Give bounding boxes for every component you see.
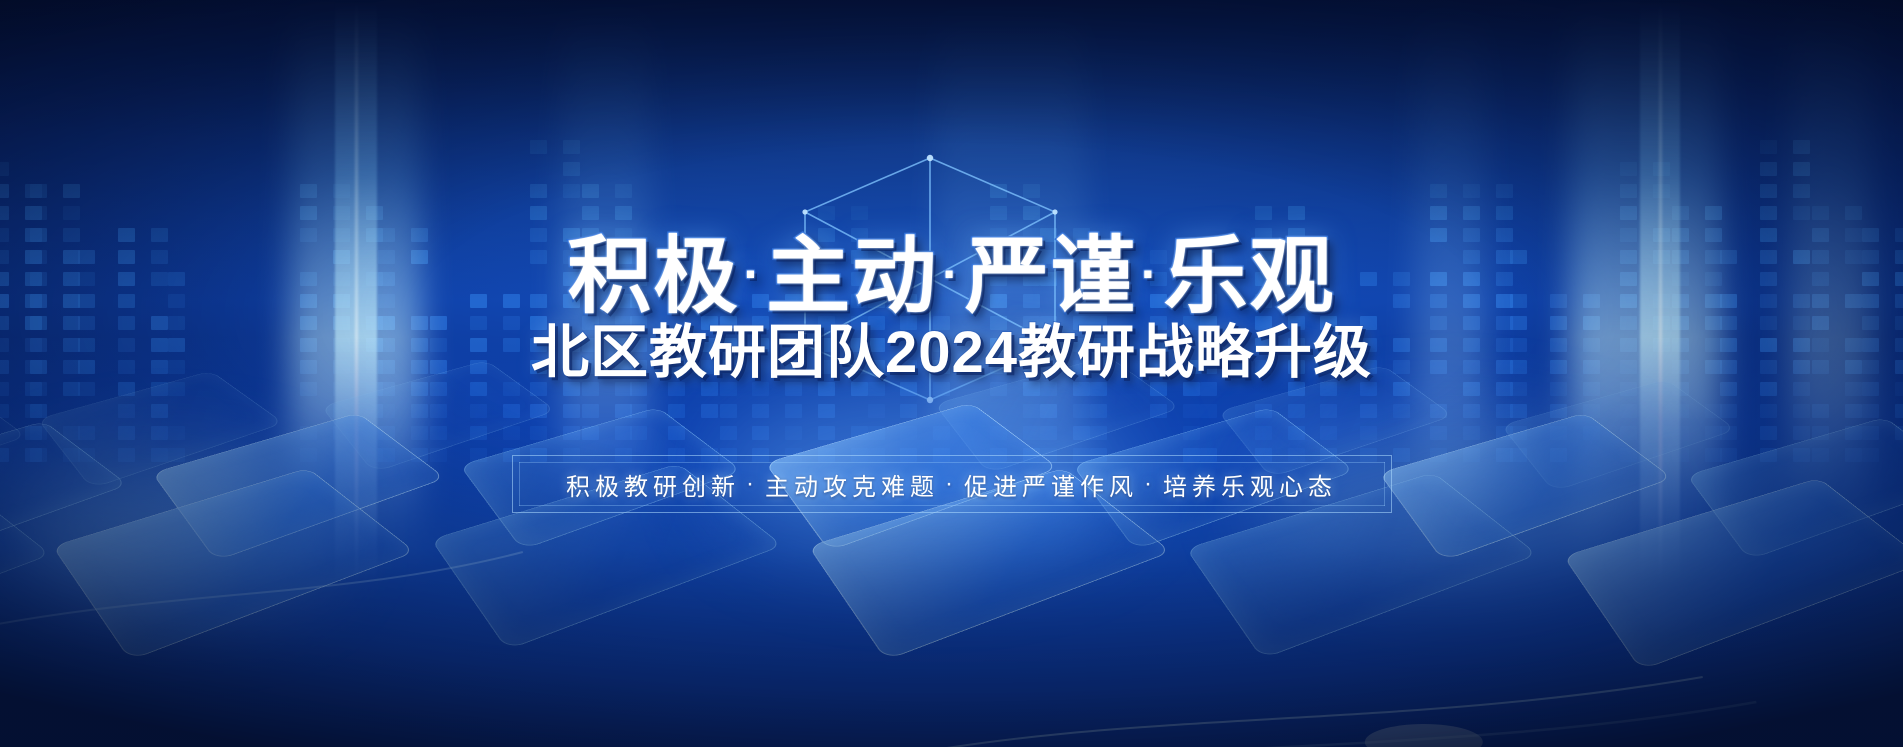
tagline-item-2: 主动攻克难题 xyxy=(765,467,939,502)
tagline-separator: · xyxy=(740,470,765,498)
event-banner: 积极·主动·严谨·乐观 北区教研团队2024教研战略升级 积极教研创新·主动攻克… xyxy=(0,0,1903,747)
banner-headline: 积极·主动·严谨·乐观 xyxy=(0,234,1903,318)
tagline-item-3: 促进严谨作风 xyxy=(964,467,1138,502)
banner-subheadline: 北区教研团队2024教研战略升级 xyxy=(0,324,1903,382)
headline-separator: · xyxy=(740,246,767,302)
tagline-text: 积极教研创新·主动攻克难题·促进严谨作风·培养乐观心态 xyxy=(512,455,1392,513)
headline-word-4: 乐观 xyxy=(1164,229,1336,323)
headline-word-1: 积极 xyxy=(567,229,739,323)
tagline-item-1: 积极教研创新 xyxy=(566,467,740,502)
tagline-separator: · xyxy=(1138,470,1163,498)
headline-word-2: 主动 xyxy=(766,229,938,323)
banner-content: 积极·主动·严谨·乐观 北区教研团队2024教研战略升级 积极教研创新·主动攻克… xyxy=(0,0,1903,747)
tagline-separator: · xyxy=(939,470,964,498)
headline-word-3: 严谨 xyxy=(965,229,1137,323)
tagline-bar: 积极教研创新·主动攻克难题·促进严谨作风·培养乐观心态 xyxy=(512,455,1392,513)
headline-separator: · xyxy=(1137,246,1164,302)
headline-separator: · xyxy=(938,246,965,302)
tagline-item-4: 培养乐观心态 xyxy=(1163,467,1337,502)
